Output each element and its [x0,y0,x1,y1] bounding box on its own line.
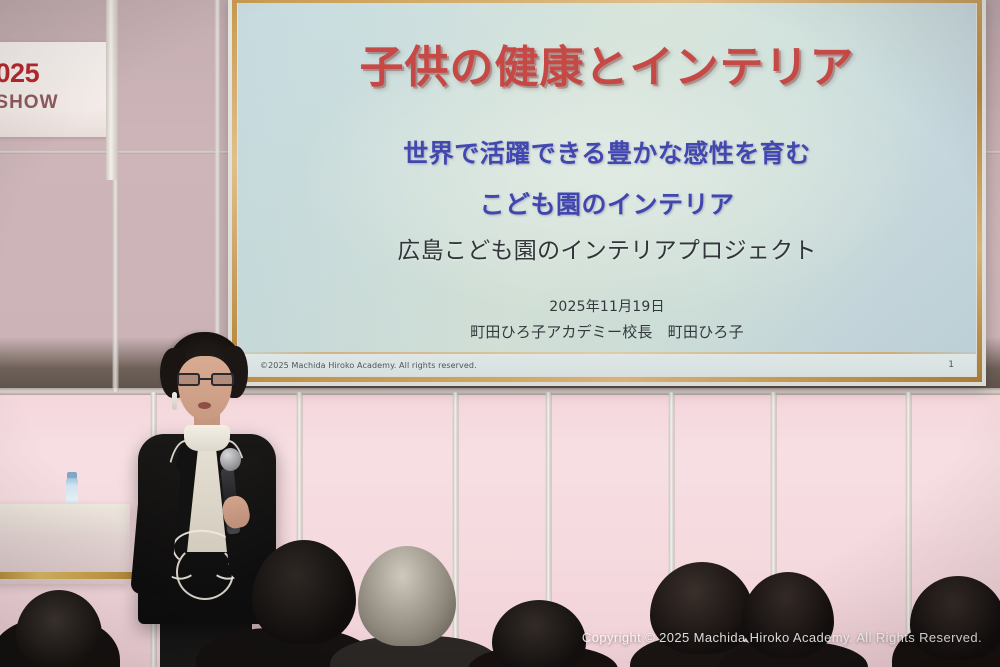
speaker-jacket-bow-trim [176,544,234,600]
slide-footer-copyright: ©2025 Machida Hiroko Academy. All rights… [260,361,477,370]
slide-subtitle-line-2: こども園のインテリア [238,185,976,221]
slide-subtitle-line-3: 広島こども園のインテリアプロジェクト [238,231,976,265]
speaker-mouth [198,402,211,409]
slide-subtitle-line-1: 世界で活躍できる豊かな感性を育む [238,134,976,170]
slide-page-number: 1 [948,360,954,370]
eyeglasses-icon [177,373,234,386]
banner-edge-post [106,0,118,180]
presentation-photo-scene: EX2025 END SHOW 子供の健康とインテリア 世界で活躍できる豊かな感… [0,0,1000,667]
slide-presenter: 町田ひろ子アカデミー校長 町田ひろ子 [238,321,976,342]
slide-date: 2025年11月19日 [238,296,976,316]
wall-panel-divider [452,392,459,667]
eyeglass-lens-left [177,373,200,386]
presentation-slide: 子供の健康とインテリア 世界で活躍できる豊かな感性を育む こども園のインテリア … [238,3,976,376]
copyright-watermark: Copyright © 2025 Machida Hiroko Academy.… [582,630,982,645]
speaker-earring [172,392,177,410]
venue-banner: EX2025 END SHOW [0,42,108,137]
slide-title: 子供の健康とインテリア [238,31,976,95]
slide-footer-bar: ©2025 Machida Hiroko Academy. All rights… [238,354,976,376]
eyeglass-bridge [200,378,211,380]
speaker-collar [184,425,230,451]
microphone-head [220,448,241,471]
venue-banner-subtitle: END SHOW [0,92,59,114]
eyeglass-lens-right [211,373,234,386]
speaker-face [178,356,232,420]
venue-banner-title: EX2025 [0,58,39,89]
